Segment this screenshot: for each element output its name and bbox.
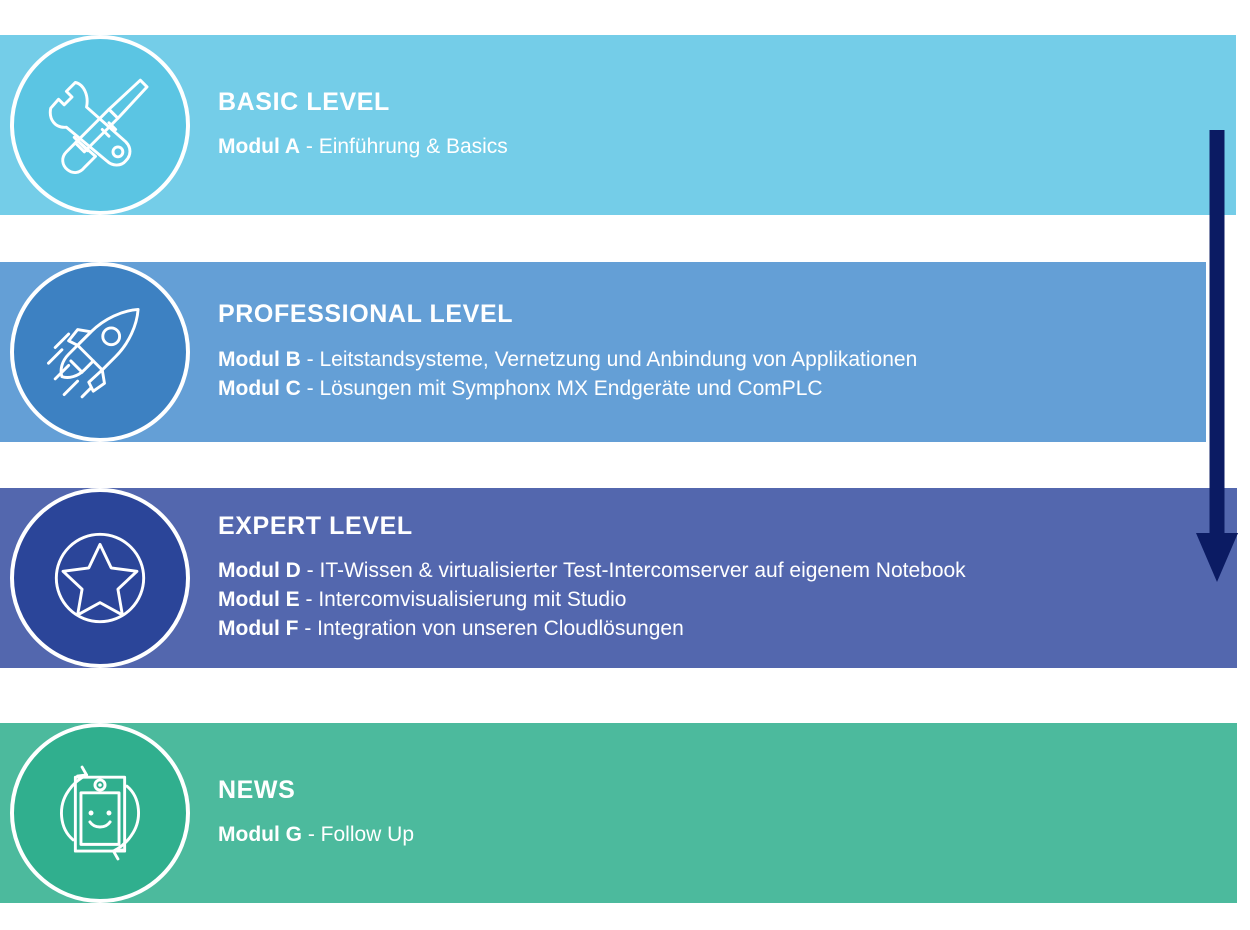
module-line: Modul E - Intercomvisualisierung mit Stu… bbox=[218, 585, 966, 614]
module-code: Modul E bbox=[218, 588, 300, 611]
module-code: Modul A bbox=[218, 135, 300, 158]
level-text-basic: BASIC LEVEL Modul A - Einführung & Basic… bbox=[218, 35, 508, 215]
module-description: Einführung & Basics bbox=[319, 135, 508, 158]
module-separator: - bbox=[301, 348, 320, 371]
rocket-icon bbox=[44, 296, 156, 408]
level-text-news: NEWS Modul G - Follow Up bbox=[218, 723, 414, 903]
module-description: Integration von unseren Cloudlösungen bbox=[317, 617, 684, 640]
module-separator: - bbox=[300, 135, 319, 158]
module-line: Modul A - Einführung & Basics bbox=[218, 132, 508, 161]
level-title-news: NEWS bbox=[218, 777, 414, 805]
level-badge-news[interactable] bbox=[10, 723, 190, 903]
module-line: Modul D - IT-Wissen & virtualisierter Te… bbox=[218, 556, 966, 585]
phone-refresh-icon bbox=[44, 757, 156, 869]
module-separator: - bbox=[298, 617, 317, 640]
module-description: IT-Wissen & virtualisierter Test-Interco… bbox=[319, 559, 965, 582]
level-badge-basic[interactable] bbox=[10, 35, 190, 215]
level-text-professional: PROFESSIONAL LEVEL Modul B - Leitstandsy… bbox=[218, 262, 917, 442]
module-code: Modul B bbox=[218, 348, 301, 371]
module-code: Modul F bbox=[218, 617, 298, 640]
level-row-professional: PROFESSIONAL LEVEL Modul B - Leitstandsy… bbox=[0, 262, 1250, 442]
level-row-basic: BASIC LEVEL Modul A - Einführung & Basic… bbox=[0, 35, 1250, 215]
module-description: Lösungen mit Symphonx MX Endgeräte und C… bbox=[319, 377, 822, 400]
level-badge-professional[interactable] bbox=[10, 262, 190, 442]
module-description: Leitstandsysteme, Vernetzung und Anbindu… bbox=[319, 348, 917, 371]
module-separator: - bbox=[300, 588, 319, 611]
level-title-professional: PROFESSIONAL LEVEL bbox=[218, 301, 917, 329]
module-separator: - bbox=[301, 377, 320, 400]
level-row-news: NEWS Modul G - Follow Up bbox=[0, 723, 1250, 903]
level-title-expert: EXPERT LEVEL bbox=[218, 513, 966, 541]
module-separator: - bbox=[302, 823, 321, 846]
level-row-expert: EXPERT LEVEL Modul D - IT-Wissen & virtu… bbox=[0, 488, 1250, 668]
module-line: Modul C - Lösungen mit Symphonx MX Endge… bbox=[218, 374, 917, 403]
module-line: Modul B - Leitstandsysteme, Vernetzung u… bbox=[218, 345, 917, 374]
module-code: Modul D bbox=[218, 559, 301, 582]
level-text-expert: EXPERT LEVEL Modul D - IT-Wissen & virtu… bbox=[218, 488, 966, 668]
level-badge-expert[interactable] bbox=[10, 488, 190, 668]
star-badge-icon bbox=[44, 522, 156, 634]
module-code: Modul G bbox=[218, 823, 302, 846]
module-description: Follow Up bbox=[321, 823, 414, 846]
tools-icon bbox=[44, 69, 156, 181]
module-code: Modul C bbox=[218, 377, 301, 400]
module-line: Modul G - Follow Up bbox=[218, 820, 414, 849]
module-description: Intercomvisualisierung mit Studio bbox=[318, 588, 626, 611]
module-separator: - bbox=[301, 559, 320, 582]
module-line: Modul F - Integration von unseren Cloudl… bbox=[218, 614, 966, 643]
level-overview-infographic: BASIC LEVEL Modul A - Einführung & Basic… bbox=[0, 0, 1250, 930]
level-title-basic: BASIC LEVEL bbox=[218, 89, 508, 117]
